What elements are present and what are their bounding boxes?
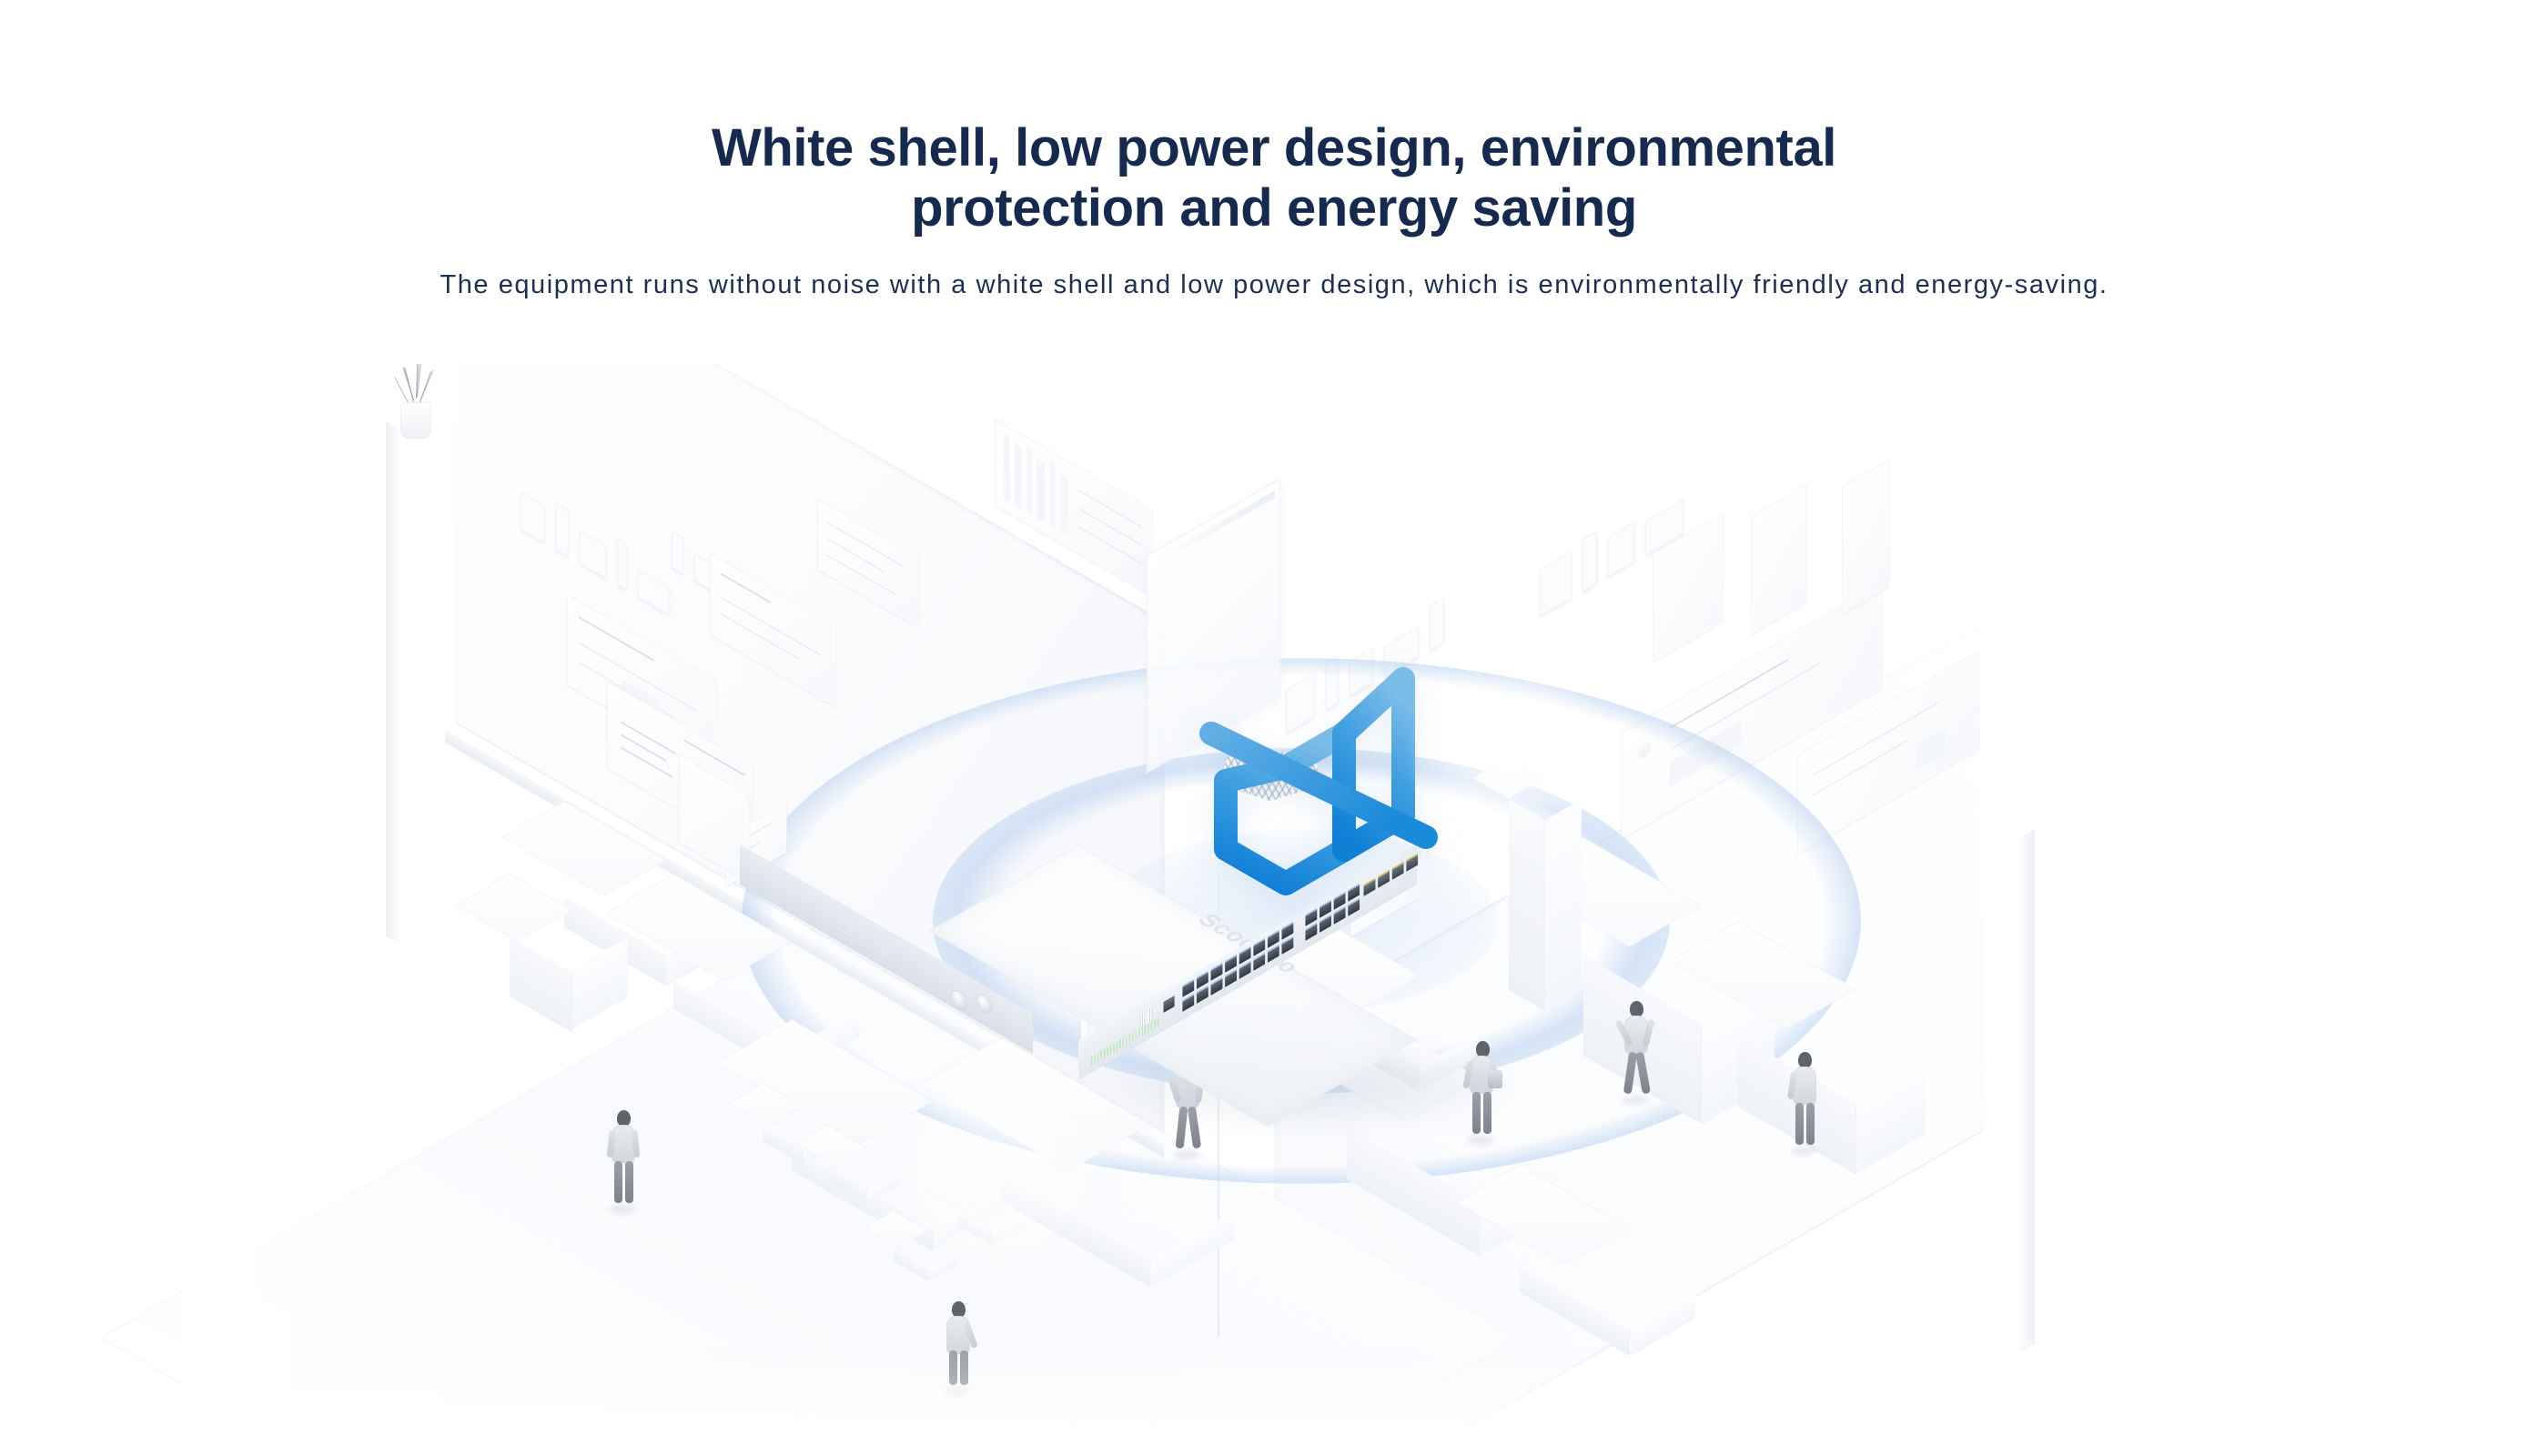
room-wall-outer-right: [2018, 829, 2035, 1353]
page-title-line-2: protection and energy saving: [0, 178, 2548, 238]
page-title-line-1: White shell, low power design, environme…: [712, 118, 1836, 177]
switch-console-port: [1164, 996, 1175, 1013]
scene-right-fade: [2184, 364, 2402, 1456]
page-title: White shell, low power design, environme…: [0, 0, 2548, 238]
wall-panel-right-5: [1842, 460, 1889, 614]
header: White shell, low power design, environme…: [0, 0, 2548, 300]
scene-left-fade: [182, 364, 400, 1456]
scene-bottom-fade: [218, 1347, 2402, 1456]
isometric-office-scene: Scodeno: [400, 364, 2202, 1456]
page-root: White shell, low power design, environme…: [0, 0, 2548, 1456]
switch-fan-1: [976, 990, 992, 1017]
illustration-stage: Scodeno: [0, 364, 2548, 1456]
wall-panel-right-4: [1752, 485, 1807, 635]
muted-speaker-icon: [1178, 626, 1479, 926]
page-subtitle: The equipment runs without noise with a …: [0, 270, 2548, 300]
